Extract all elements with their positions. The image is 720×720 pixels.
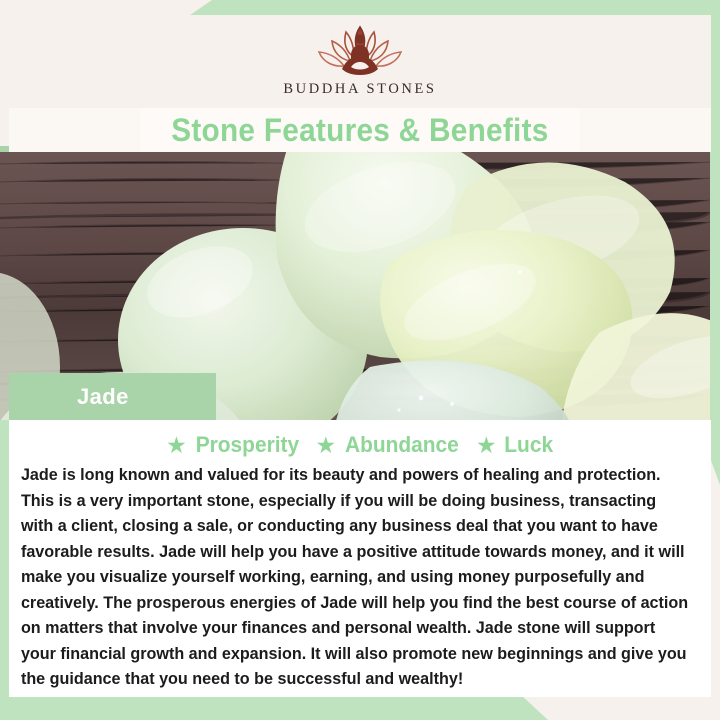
- brand-logo: BUDDHA STONES: [283, 21, 436, 98]
- content-panel: ★ Prosperity ★ Abundance ★ Luck Jade is …: [9, 420, 711, 697]
- star-icon: ★: [316, 434, 337, 457]
- page-title: Stone Features & Benefits: [171, 112, 548, 149]
- decorative-green-top-band: [0, 0, 720, 15]
- title-banner-inner: Stone Features & Benefits: [140, 108, 580, 152]
- stone-name-label: Jade: [77, 384, 129, 410]
- brand-name: BUDDHA STONES: [283, 81, 436, 98]
- title-banner: Stone Features & Benefits: [9, 108, 711, 152]
- decorative-green-bottom-band: [0, 694, 720, 720]
- stone-description: Jade is long known and valued for its be…: [17, 463, 693, 693]
- keyword-item-prosperity: ★ Prosperity: [166, 432, 301, 458]
- keyword-item-luck: ★ Luck: [476, 432, 554, 458]
- keyword-item-abundance: ★ Abundance: [316, 432, 462, 458]
- star-icon: ★: [476, 434, 497, 457]
- keyword-label: Prosperity: [195, 432, 298, 458]
- stone-name-bar: Jade: [9, 373, 216, 420]
- keyword-label: Abundance: [345, 432, 459, 458]
- infographic-card: BUDDHA STONES Stone Features & Benefits: [0, 0, 720, 720]
- star-icon: ★: [166, 434, 187, 457]
- keyword-list: ★ Prosperity ★ Abundance ★ Luck: [17, 430, 703, 460]
- lotus-meditation-icon: [294, 21, 426, 83]
- keyword-label: Luck: [504, 432, 553, 458]
- brand-header: BUDDHA STONES: [9, 15, 711, 108]
